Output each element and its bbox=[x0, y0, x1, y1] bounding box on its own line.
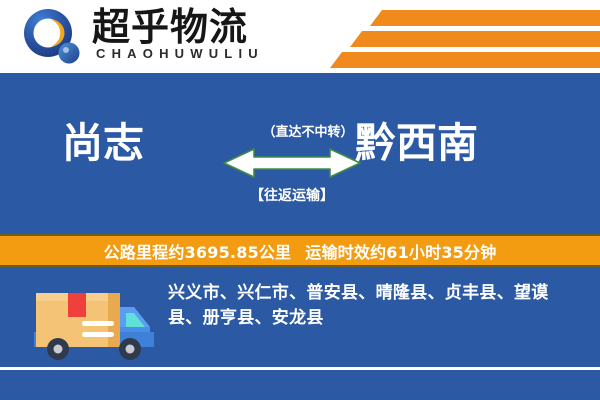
brand-name-en: CHAOHUWULIU bbox=[96, 46, 264, 61]
destination-city-list: 兴义市、兴仁市、普安县、晴隆县、贞丰县、望谟县、册亨县、安龙县 bbox=[168, 281, 580, 331]
info-bar: 公路里程约3695.85公里运输时效约61小时35分钟 bbox=[0, 234, 600, 267]
route-section: 尚志 黔西南 （直达不中转） 【往返运输】 bbox=[0, 73, 600, 234]
double-headed-arrow-icon bbox=[222, 145, 362, 181]
duration-text: 运输时效约61小时35分钟 bbox=[305, 243, 496, 262]
brand-name-cn: 超乎物流 bbox=[92, 6, 248, 48]
destination-section: 兴义市、兴仁市、普安县、晴隆县、贞丰县、望谟县、册亨县、安龙县 bbox=[0, 269, 600, 368]
destination-city: 黔西南 bbox=[355, 119, 478, 167]
distance-text: 公路里程约3695.85公里 bbox=[104, 243, 292, 262]
delivery-truck-icon bbox=[24, 277, 159, 369]
banner-body: 尚志 黔西南 （直达不中转） 【往返运输】 公路里程约3695.85公里运输时效… bbox=[0, 73, 600, 400]
chaohu-circle-logo-icon bbox=[22, 8, 82, 66]
roundtrip-note: 【往返运输】 bbox=[232, 185, 352, 205]
orange-stripes-decoration bbox=[310, 0, 600, 73]
banner-header: 超乎物流 CHAOHUWULIU bbox=[0, 0, 600, 73]
logistics-banner: 超乎物流 CHAOHUWULIU 尚志 黔西南 （直达不中转） 【往返运输】 bbox=[0, 0, 600, 400]
footer-strip bbox=[0, 370, 600, 400]
direct-shipping-note: （直达不中转） bbox=[243, 121, 373, 140]
info-bar-text: 公路里程约3695.85公里运输时效约61小时35分钟 bbox=[104, 239, 497, 263]
origin-city: 尚志 bbox=[62, 119, 144, 167]
